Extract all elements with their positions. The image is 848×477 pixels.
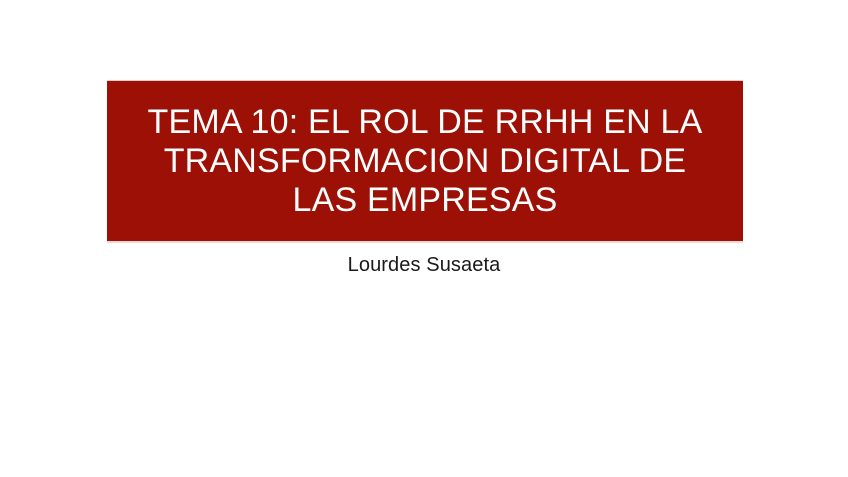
title-banner: TEMA 10: EL ROL DE RRHH EN LA TRANSFORMA… [107, 80, 743, 243]
title-line-3: LAS EMPRESAS [115, 181, 735, 220]
slide-subtitle-author: Lourdes Susaeta [0, 253, 848, 277]
presentation-slide: TEMA 10: EL ROL DE RRHH EN LA TRANSFORMA… [0, 0, 848, 477]
title-line-2: TRANSFORMACION DIGITAL DE [115, 142, 735, 181]
title-line-1: TEMA 10: EL ROL DE RRHH EN LA [115, 103, 735, 142]
slide-content-area [0, 290, 848, 477]
slide-title: TEMA 10: EL ROL DE RRHH EN LA TRANSFORMA… [107, 103, 743, 220]
